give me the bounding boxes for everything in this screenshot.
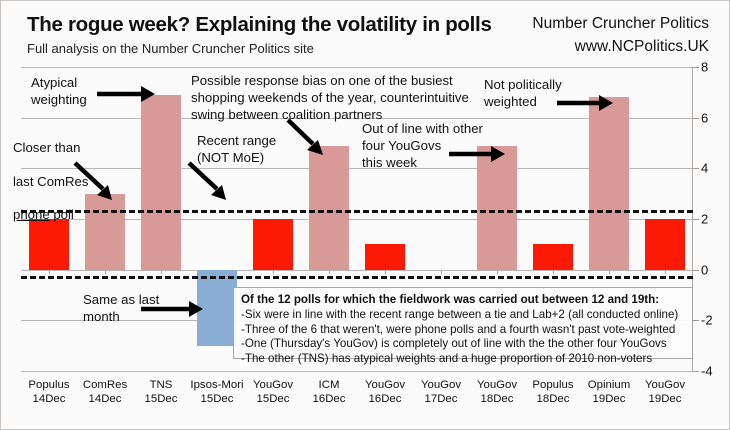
x-minor-tick <box>105 270 106 274</box>
y-tick-mark-0 <box>693 270 699 271</box>
x-tick-label-1: ComRes14Dec <box>83 378 127 407</box>
y-tick-label-2: 2 <box>701 212 729 227</box>
arrow-closer-than-comres <box>73 161 119 203</box>
x-label-pollster: YouGov <box>365 378 405 392</box>
callout-title: Of the 12 polls for which the fieldwork … <box>241 293 685 308</box>
annotation-underlined-word: phone <box>13 207 50 222</box>
annotation-line-1: Closer than <box>13 140 80 155</box>
x-tick-label-5: ICM16Dec <box>313 378 346 407</box>
annotation-line-3-rest: poll <box>50 207 74 222</box>
reference-line-0 <box>21 210 693 213</box>
callout-line-4: -The other (TNS) has atypical weights an… <box>241 352 685 367</box>
x-label-date: 14Dec <box>83 392 127 406</box>
bar-yougov-19dec <box>645 219 684 270</box>
callout-box: Of the 12 polls for which the fieldwork … <box>233 287 693 359</box>
x-minor-tick <box>329 270 330 274</box>
x-label-date: 19Dec <box>588 392 630 406</box>
bar-populus-14dec <box>29 219 68 270</box>
x-tick-label-8: YouGov18Dec <box>477 378 517 407</box>
bar-yougov-16dec <box>365 244 404 269</box>
x-label-pollster: Populus <box>532 378 573 392</box>
x-label-pollster: YouGov <box>253 378 293 392</box>
bar-opinium-19dec <box>589 97 628 269</box>
x-label-date: 15Dec <box>145 392 178 406</box>
x-tick-label-9: Populus18Dec <box>532 378 573 407</box>
x-minor-tick <box>161 270 162 274</box>
y-tick-label-6: 6 <box>701 110 729 125</box>
x-tick-label-2: TNS15Dec <box>145 378 178 407</box>
x-tick-label-4: YouGov15Dec <box>253 378 293 407</box>
reference-line-1 <box>21 276 693 279</box>
callout-line-1: -Six were in line with the recent range … <box>241 308 685 323</box>
x-minor-tick <box>273 270 274 274</box>
x-tick-label-0: Populus14Dec <box>28 378 69 407</box>
arrow-response-bias <box>285 117 327 159</box>
bar-populus-18dec <box>533 244 572 269</box>
gridline-8 <box>21 67 693 68</box>
y-tick-mark--2 <box>693 320 699 321</box>
brand-url: www.NCPolitics.UK <box>575 38 709 56</box>
y-tick-mark-8 <box>693 67 699 68</box>
x-label-pollster: Ipsos-Mori <box>190 378 243 392</box>
x-minor-tick <box>553 270 554 274</box>
x-label-date: 16Dec <box>313 392 346 406</box>
y-tick-label-0: 0 <box>701 262 729 277</box>
bar-icm-16dec <box>309 146 348 270</box>
x-tick-label-6: YouGov16Dec <box>365 378 405 407</box>
x-label-pollster: ComRes <box>83 378 127 392</box>
chart-page: The rogue week? Explaining the volatilit… <box>0 0 730 430</box>
x-label-pollster: TNS <box>145 378 178 392</box>
page-title: The rogue week? Explaining the volatilit… <box>27 13 492 37</box>
x-label-pollster: YouGov <box>421 378 461 392</box>
x-tick-label-10: Opinium19Dec <box>588 378 630 407</box>
bar-ipsos-mori-15dec <box>197 270 236 346</box>
x-minor-tick <box>609 270 610 274</box>
x-label-pollster: Opinium <box>588 378 630 392</box>
y-tick-label-4: 4 <box>701 161 729 176</box>
bar-yougov-15dec <box>253 219 292 270</box>
bar-tns-15dec <box>141 95 180 270</box>
annotation-not-politically-weighted: Not politically weighted <box>484 77 562 111</box>
gridline--4 <box>21 371 693 372</box>
x-label-date: 15Dec <box>253 392 293 406</box>
gridline-0 <box>21 270 693 271</box>
arrow-same-as-last-month <box>141 298 203 320</box>
page-subtitle: Full analysis on the Number Cruncher Pol… <box>27 41 314 56</box>
x-label-date: 17Dec <box>421 392 461 406</box>
arrow-atypical-weighting <box>97 83 155 105</box>
x-tick-label-11: YouGov19Dec <box>645 378 685 407</box>
x-label-pollster: YouGov <box>477 378 517 392</box>
x-minor-tick <box>49 270 50 274</box>
y-tick-mark--4 <box>693 371 699 372</box>
y-tick-mark-4 <box>693 168 699 169</box>
x-label-date: 16Dec <box>365 392 405 406</box>
y-tick-mark-2 <box>693 219 699 220</box>
x-minor-tick <box>665 270 666 274</box>
x-label-date: 14Dec <box>28 392 69 406</box>
x-label-date: 18Dec <box>532 392 573 406</box>
arrow-out-of-line <box>449 143 505 165</box>
x-minor-tick <box>441 270 442 274</box>
bar-comres-14dec <box>85 194 124 270</box>
callout-line-3: -One (Thursday's YouGov) is completely o… <box>241 337 685 352</box>
annotation-response-bias: Possible response bias on one of the bus… <box>191 73 469 124</box>
x-tick-label-7: YouGov17Dec <box>421 378 461 407</box>
x-label-date: 15Dec <box>190 392 243 406</box>
x-minor-tick <box>497 270 498 274</box>
y-tick-mark-6 <box>693 118 699 119</box>
annotation-atypical-weighting: Atypical weighting <box>31 75 87 109</box>
brand-name: Number Cruncher Politics <box>532 15 709 33</box>
x-label-pollster: YouGov <box>645 378 685 392</box>
x-label-date: 18Dec <box>477 392 517 406</box>
x-minor-tick <box>385 270 386 274</box>
y-tick-label--2: -2 <box>701 313 729 328</box>
x-tick-label-3: Ipsos-Mori15Dec <box>190 378 243 407</box>
y-tick-label--4: -4 <box>701 364 729 379</box>
x-label-pollster: ICM <box>313 378 346 392</box>
callout-line-2: -Three of the 6 that weren't, were phone… <box>241 323 685 338</box>
x-label-pollster: Populus <box>28 378 69 392</box>
x-label-date: 19Dec <box>645 392 685 406</box>
y-tick-label-8: 8 <box>701 60 729 75</box>
arrow-not-politically-weighted <box>557 92 613 114</box>
arrow-recent-range <box>187 161 233 203</box>
